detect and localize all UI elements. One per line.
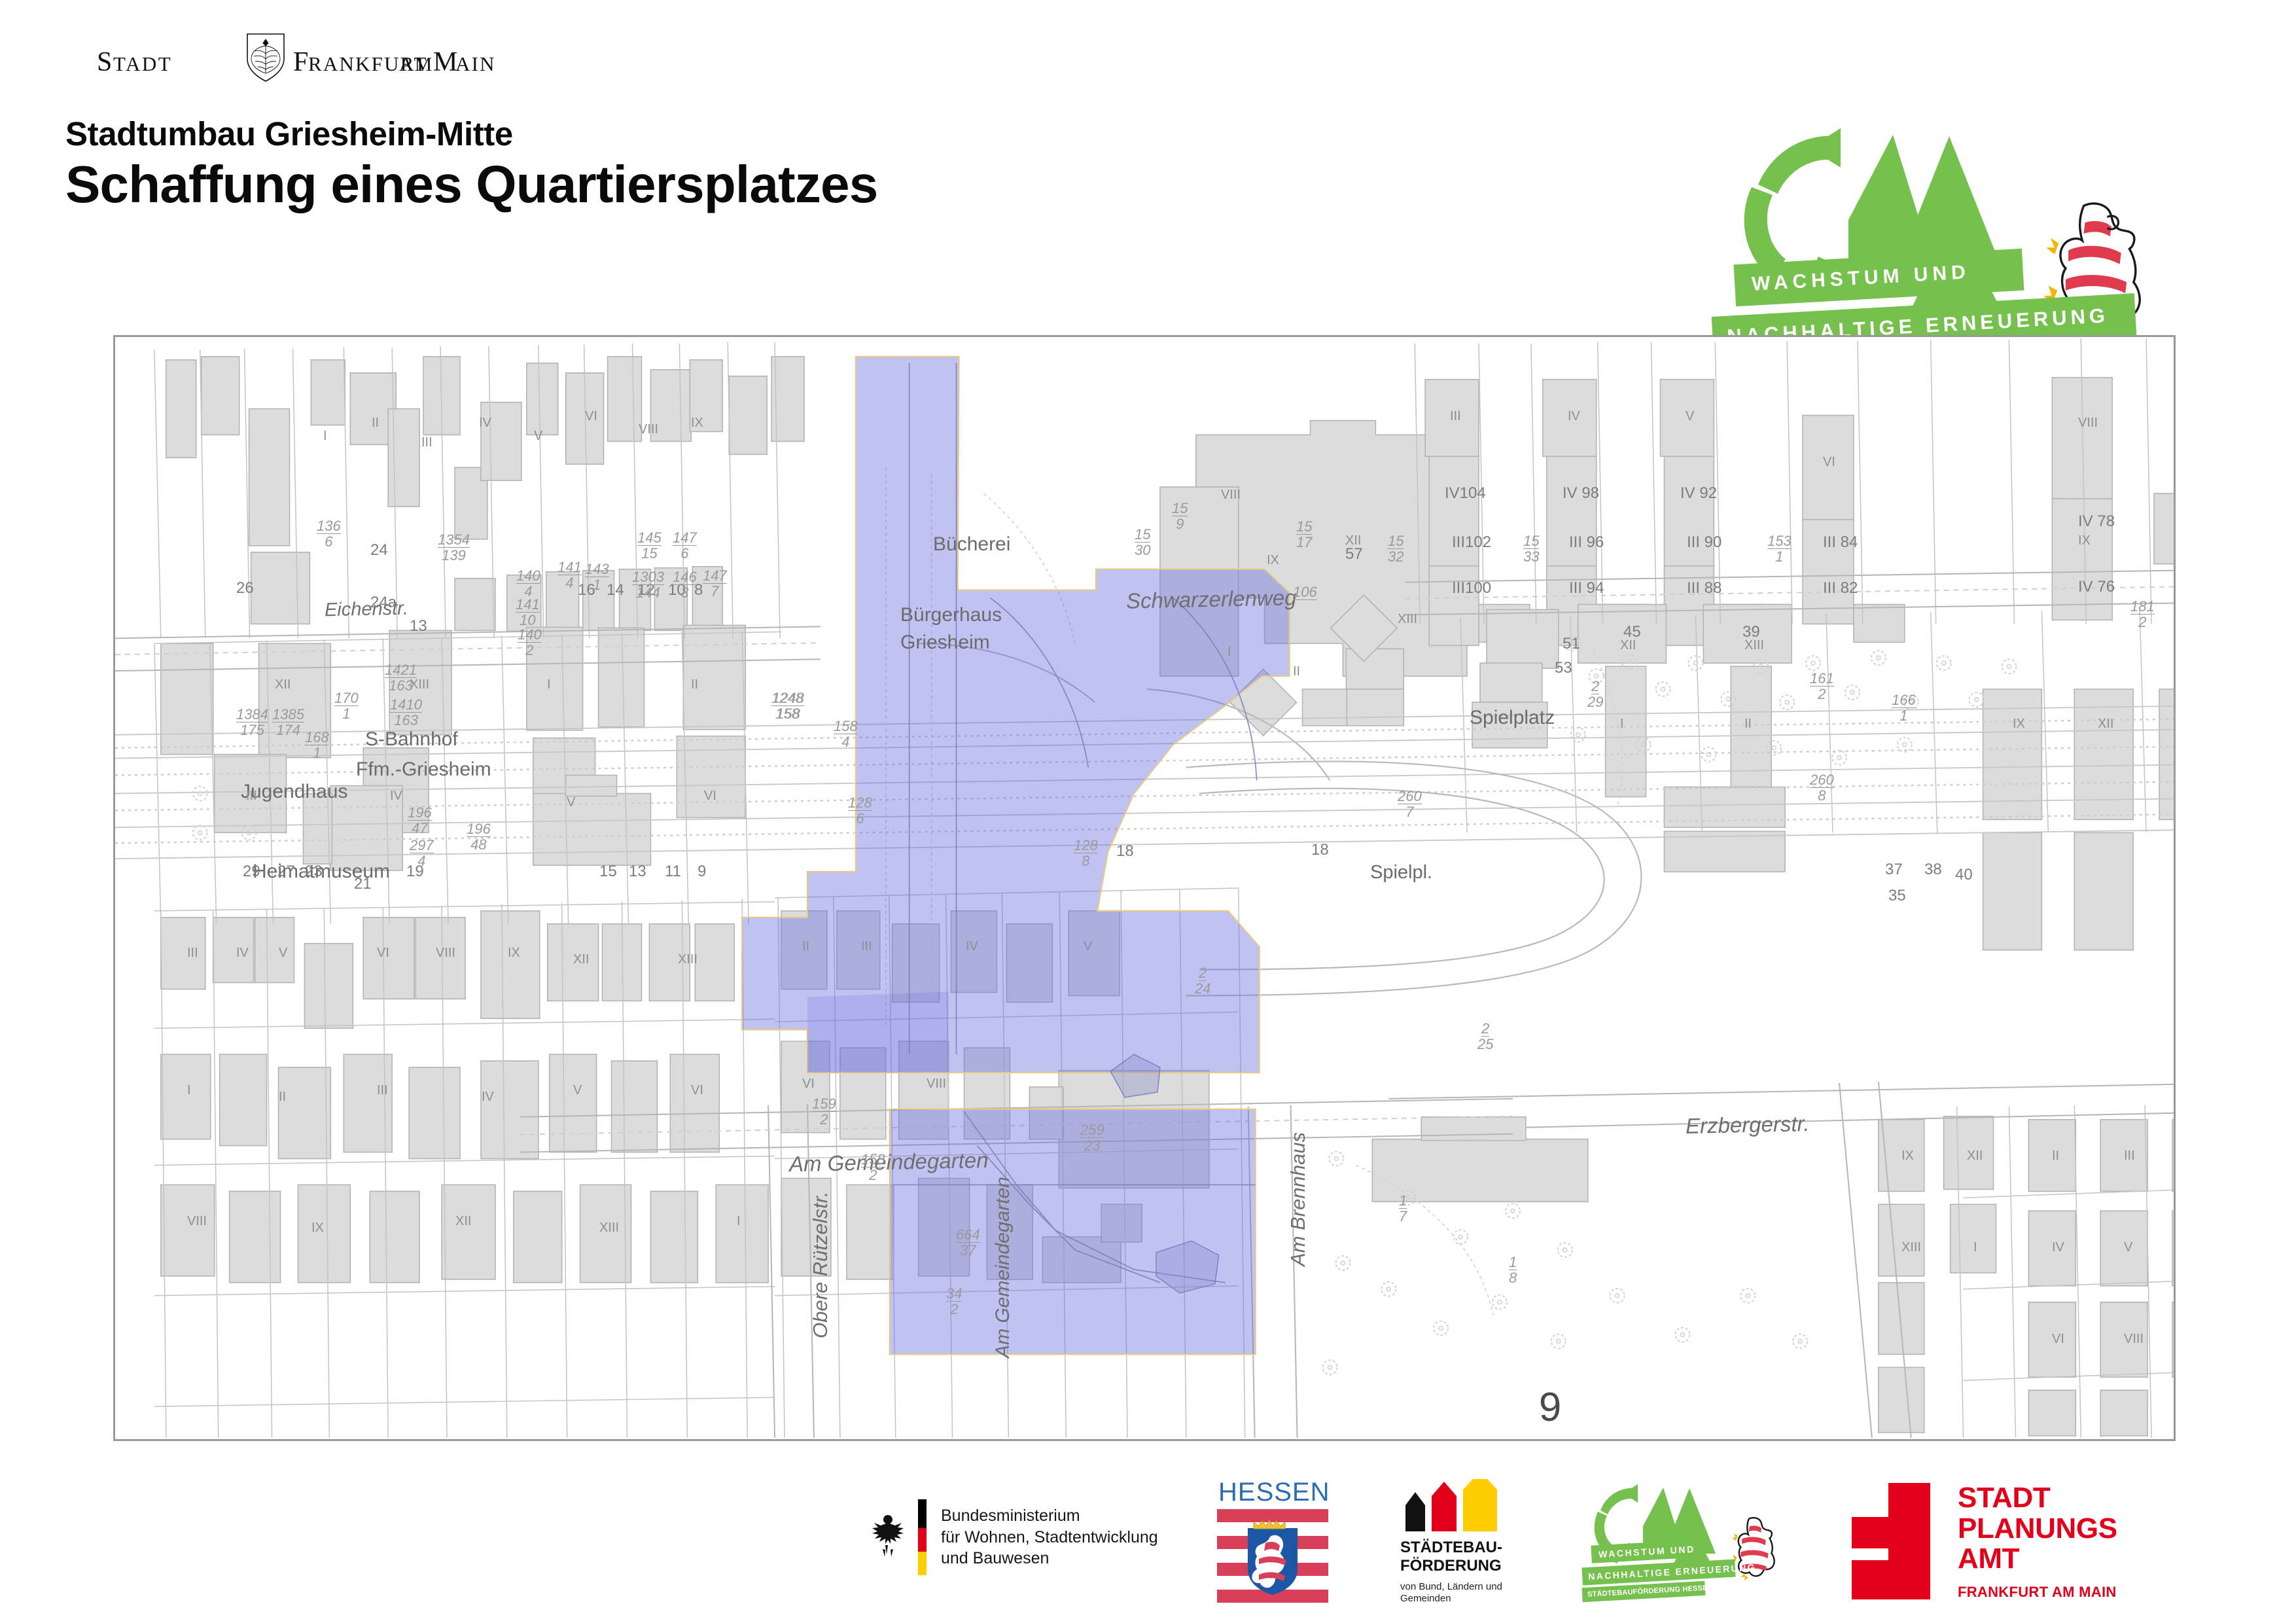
bmwsb-line2: für Wohnen, Stadtentwicklung [941, 1527, 1158, 1548]
svg-text:9: 9 [1539, 1385, 1561, 1430]
german-flag-bar [918, 1499, 927, 1575]
sbf-line1: STÄDTEBAU- [1400, 1539, 1538, 1557]
title-block: Stadtumbau Griesheim-Mitte Schaffung ein… [65, 116, 1505, 211]
staedtebaufoerderung-name: STÄDTEBAU- FÖRDERUNG [1400, 1539, 1538, 1576]
sbf-sub2: Gemeinden [1400, 1593, 1538, 1605]
federal-eagle-icon [867, 1512, 909, 1562]
spa-line2: PLANUNGS [1958, 1514, 2117, 1544]
svg-text:S: S [97, 47, 113, 77]
bmwsb-line3: und Bauwesen [941, 1548, 1158, 1569]
sbf-sub1: von Bund, Ländern und [1400, 1581, 1538, 1594]
city-of-frankfurt-logo: S TADT F RANKFURT AM M AIN [97, 31, 516, 82]
page-subtitle: Stadtumbau Griesheim-Mitte [65, 116, 1505, 152]
program-logo-small: WACHSTUM UND NACHHALTIGE ERNEUERUNG STÄD… [1583, 1482, 1786, 1606]
stadtplanungsamt-mark-icon [1852, 1483, 1930, 1599]
footer-logo-bar: Bundesministerium für Wohnen, Stadtentwi… [0, 1474, 2296, 1623]
hessen-flag [1217, 1509, 1328, 1603]
svg-text:AM: AM [399, 54, 433, 75]
spa-line3: AMT [1958, 1544, 2117, 1575]
sbf-line2: FÖRDERUNG [1400, 1557, 1538, 1575]
staedtebaufoerderung-logo: STÄDTEBAU- FÖRDERUNG von Bund, Ländern u… [1400, 1479, 1538, 1610]
svg-text:AIN: AIN [455, 52, 496, 75]
staedtebaufoerderung-sub: von Bund, Ländern und Gemeinden [1400, 1581, 1538, 1606]
stadtplanungsamt-name: STADT PLANUNGS AMT FRANKFURT AM MAIN [1958, 1483, 2117, 1601]
stadtplanungsamt-logo: STADT PLANUNGS AMT FRANKFURT AM MAIN [1852, 1483, 2218, 1607]
bmwsb-name: Bundesministerium für Wohnen, Stadtentwi… [941, 1505, 1158, 1569]
page-title: Schaffung eines Quartiersplatzes [65, 158, 1505, 211]
spa-line1: STADT [1958, 1483, 2117, 1514]
bmwsb-logo: Bundesministerium für Wohnen, Stadtentwi… [867, 1488, 1207, 1586]
bmwsb-line1: Bundesministerium [941, 1505, 1158, 1527]
spa-sub: FRANKFURT AM MAIN [1958, 1584, 2117, 1601]
hessen-wordmark: HESSEN [1218, 1479, 1335, 1505]
svg-text:F: F [293, 47, 309, 77]
svg-text:M: M [433, 47, 458, 77]
hessen-coat-of-arms-icon [1246, 1518, 1299, 1596]
svg-text:TADT: TADT [113, 52, 172, 75]
cadastral-map[interactable]: 9 Eichenstr. Schwarzerlenweg Am Gemeinde… [113, 335, 2176, 1441]
hessen-state-logo: HESSEN [1217, 1479, 1335, 1607]
three-houses-icon [1400, 1479, 1518, 1531]
